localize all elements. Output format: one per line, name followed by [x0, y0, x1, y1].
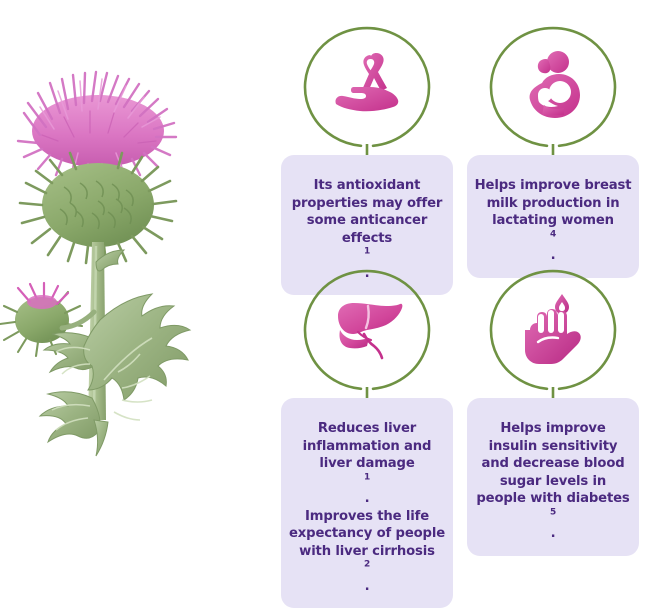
milk-thistle-illustration	[0, 20, 270, 510]
benefit-text-lactation: Helps improve breast milk production in …	[467, 155, 639, 278]
benefit-card-diabetes[interactable]: Helps improve insulin sensitivity and de…	[463, 265, 643, 415]
reference-marker: 4	[550, 229, 556, 239]
benefit-card-anticancer[interactable]: Its antioxidant properties may offer som…	[277, 22, 457, 172]
benefit-text-diabetes: Helps improve insulin sensitivity and de…	[467, 398, 639, 556]
icon-circle-diabetes	[463, 265, 643, 415]
benefit-text-period: .	[288, 490, 446, 508]
finger-prick-blood-drop-icon	[516, 290, 590, 364]
benefit-text-body: Reduces liver inflammation and liver dam…	[288, 420, 446, 473]
benefit-text-body-2: Improves the life expectancy of people w…	[288, 508, 446, 561]
benefits-grid: Its antioxidant properties may offer som…	[275, 22, 650, 517]
reference-marker: 1	[364, 247, 370, 257]
thistle-leaves	[40, 250, 190, 456]
benefit-text-period: .	[474, 525, 632, 543]
benefit-text-liver: Reduces liver inflammation and liver dam…	[281, 398, 453, 608]
benefit-text-body: Helps improve insulin sensitivity and de…	[474, 420, 632, 508]
icon-circle-anticancer	[277, 22, 457, 172]
milk-thistle-benefits-infographic: Its antioxidant properties may offer som…	[0, 0, 650, 520]
icon-circle-liver	[277, 265, 457, 415]
thistle-flower-head	[18, 72, 176, 179]
breastfeeding-mother-icon	[516, 47, 590, 121]
benefit-text-period: .	[474, 247, 632, 265]
benefit-card-lactation[interactable]: Helps improve breast milk production in …	[463, 22, 643, 172]
benefit-text-period-2: .	[288, 578, 446, 596]
reference-marker: 1	[364, 472, 370, 482]
benefit-card-liver[interactable]: Reduces liver inflammation and liver dam…	[277, 265, 457, 415]
icon-circle-lactation	[463, 22, 643, 172]
reference-marker: 5	[550, 507, 556, 517]
liver-organ-icon	[330, 290, 404, 364]
reference-marker-2: 2	[364, 560, 370, 570]
hand-holding-ribbon-icon	[330, 47, 404, 121]
benefit-text-body: Its antioxidant properties may offer som…	[288, 177, 446, 247]
benefit-text-body: Helps improve breast milk production in …	[474, 177, 632, 230]
